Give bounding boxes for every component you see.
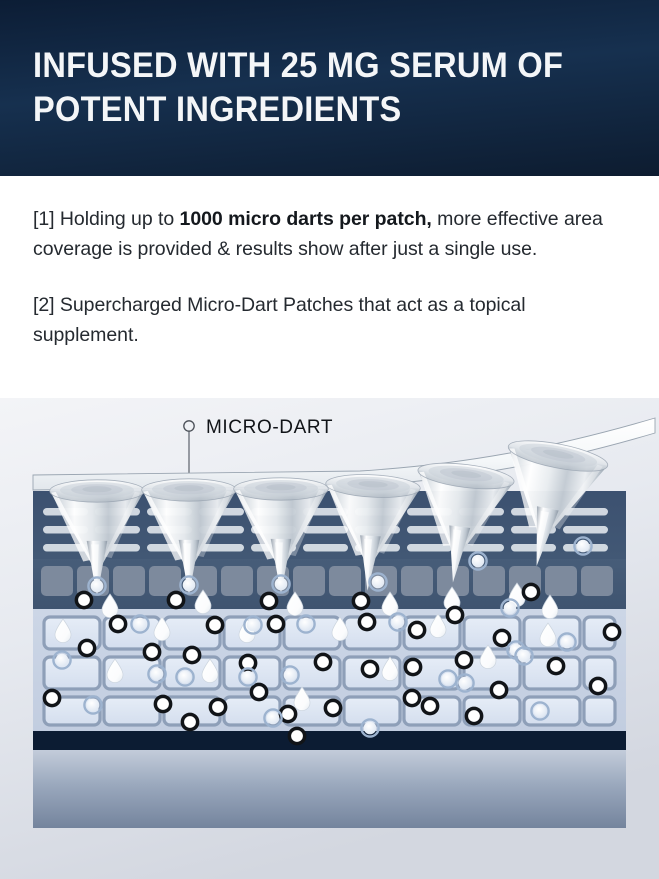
paragraph-1-marker: [1] [33, 208, 55, 230]
active-ingredient-particle [209, 698, 228, 717]
layer-basement-membrane [33, 731, 626, 750]
active-ingredient-particle [267, 615, 286, 634]
absorbed-particle-tip-3 [272, 575, 289, 592]
active-ingredient-particle [358, 613, 377, 632]
absorbed-particle [84, 696, 101, 713]
absorbed-particle-tip-4 [369, 573, 386, 590]
absorbed-particle [361, 719, 378, 736]
active-ingredient-particle [78, 639, 97, 658]
active-ingredient-particle [43, 689, 62, 708]
active-ingredient-particle [547, 657, 566, 676]
absorbed-particle [264, 709, 281, 726]
paragraph-2-marker: [2] [33, 294, 55, 316]
active-ingredient-particle [143, 643, 162, 662]
active-ingredient-particle [404, 658, 423, 677]
active-ingredient-particle [490, 681, 509, 700]
paragraph-2-text-before: Supercharged Micro-Dart Patches that act… [33, 294, 525, 346]
active-ingredient-particle [324, 699, 343, 718]
active-ingredient-particle [361, 660, 380, 679]
active-ingredient-particle [206, 616, 225, 635]
absorbed-particle [281, 666, 298, 683]
active-ingredient-particle [465, 707, 484, 726]
absorbed-particle-tip-5 [469, 552, 486, 569]
absorbed-particle [531, 702, 548, 719]
absorbed-particle [389, 613, 406, 630]
absorbed-particle [558, 633, 575, 650]
absorbed-particle [176, 668, 193, 685]
absorbed-particle [148, 665, 165, 682]
active-ingredient-particle [167, 591, 186, 610]
absorbed-particle [439, 670, 456, 687]
body-copy: [1] Holding up to 1000 micro darts per p… [33, 204, 613, 350]
active-ingredient-particle [181, 713, 200, 732]
active-ingredient-particle [109, 615, 128, 634]
infographic-page: INFUSED WITH 25 MG SERUM OF POTENT INGRE… [0, 0, 659, 879]
paragraph-1-bold: 1000 micro darts per patch, [180, 208, 432, 230]
paragraph-1: [1] Holding up to 1000 micro darts per p… [33, 204, 613, 264]
absorbed-particle [244, 616, 261, 633]
active-ingredient-particle [154, 695, 173, 714]
absorbed-particle-tip-2 [180, 576, 197, 593]
absorbed-particle [297, 615, 314, 632]
absorbed-particle [456, 674, 473, 691]
absorbed-particle-tip-1 [88, 577, 105, 594]
skin-cross-section-diagram [0, 398, 659, 879]
active-ingredient-particle [183, 646, 202, 665]
layer-subcutaneous-tissue [33, 750, 626, 828]
active-ingredient-particle [75, 591, 94, 610]
active-ingredient-particle [421, 697, 440, 716]
page-title: INFUSED WITH 25 MG SERUM OF POTENT INGRE… [33, 44, 591, 132]
active-ingredient-particle [352, 592, 371, 611]
diagram-svg [0, 398, 659, 879]
absorbed-particle [239, 668, 256, 685]
active-ingredient-particle [446, 606, 465, 625]
callout-label-micro-dart: MICRO-DART [206, 417, 333, 439]
active-ingredient-particle [314, 653, 333, 672]
active-ingredient-particle [603, 623, 622, 642]
active-ingredient-particle [403, 689, 422, 708]
active-ingredient-particle [260, 592, 279, 611]
active-ingredient-particle [522, 583, 541, 602]
header-banner: INFUSED WITH 25 MG SERUM OF POTENT INGRE… [0, 0, 659, 176]
paragraph-2: [2] Supercharged Micro-Dart Patches that… [33, 290, 613, 350]
absorbed-particle [53, 651, 70, 668]
absorbed-particle [501, 599, 518, 616]
active-ingredient-particle [589, 677, 608, 696]
active-ingredient-particle [408, 621, 427, 640]
absorbed-particle [515, 647, 532, 664]
active-ingredient-particle [288, 727, 307, 746]
absorbed-particle [131, 615, 148, 632]
absorbed-particle-tip-6 [574, 537, 591, 554]
paragraph-1-text-before: Holding up to [55, 208, 180, 230]
active-ingredient-particle [455, 651, 474, 670]
